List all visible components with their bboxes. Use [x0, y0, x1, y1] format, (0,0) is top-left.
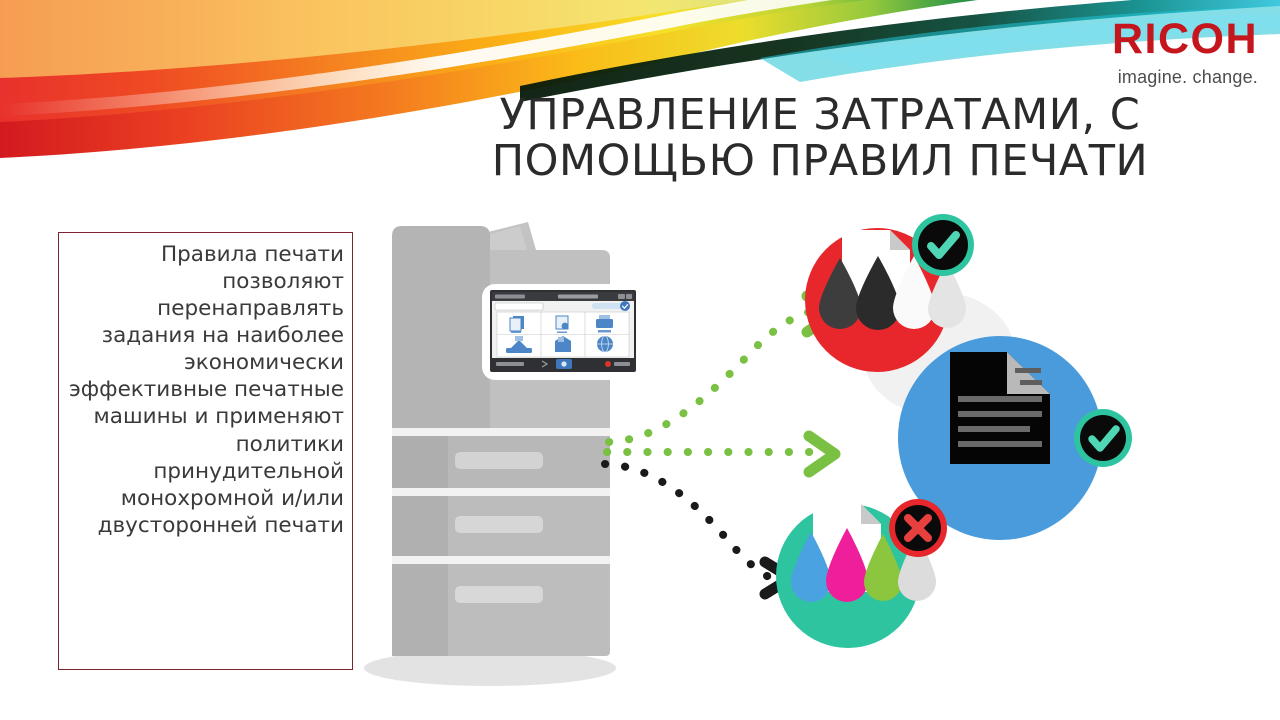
arrow-to-mono-output: [609, 296, 833, 442]
check-badge: [912, 214, 974, 276]
cross-badge: [889, 499, 947, 557]
callout-textbox: Правила печати позволяют перенаправлять …: [58, 232, 353, 670]
arrow-to-document-output: [607, 436, 835, 472]
callout-text: Правила печати позволяют перенаправлять …: [65, 241, 344, 539]
ricoh-tagline: imagine. change.: [1112, 68, 1258, 86]
ricoh-wordmark: RICOH: [1112, 18, 1258, 61]
print-policy-flow-diagram: [595, 200, 1155, 680]
ricoh-logo: RICOH imagine. change.: [1112, 18, 1258, 86]
arrow-to-color-output: [605, 464, 791, 594]
black-document-icon: [950, 352, 1050, 464]
page-title: УПРАВЛЕНИЕ ЗАТРАТАМИ, С ПОМОЩЬЮ ПРАВИЛ П…: [420, 92, 1220, 185]
check-badge: [1074, 409, 1132, 467]
printer-paper-drawers: [392, 428, 610, 656]
color-print-node: [776, 499, 947, 648]
